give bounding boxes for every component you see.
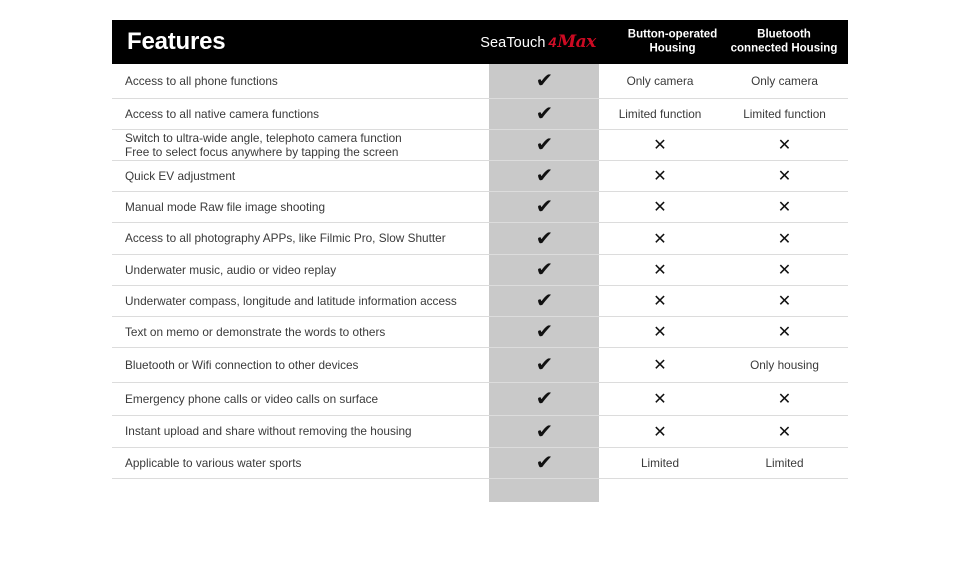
feature-label: Bluetooth or Wifi connection to other de… [112,358,489,373]
check-icon: ✔ [535,228,553,248]
table-row: Quick EV adjustment✔✕✕ [112,161,848,192]
feature-label: Manual mode Raw file image shooting [112,200,489,215]
cell-button-operated: ✕ [599,137,721,153]
cross-icon: ✕ [778,293,791,309]
cell-bluetooth-connected: ✕ [721,199,848,215]
cell-seatouch: ✔ [489,290,599,312]
table-row: Emergency phone calls or video calls on … [112,383,848,416]
cell-seatouch: ✔ [489,70,599,92]
feature-label-line: Access to all photography APPs, like Fil… [125,231,483,246]
cross-icon: ✕ [778,199,791,215]
column-header-line1: Bluetooth [720,29,848,43]
cell-seatouch: ✔ [489,354,599,376]
cross-icon: ✕ [778,324,791,340]
feature-label-line: Access to all native camera functions [125,107,483,122]
cross-icon: ✕ [778,231,791,247]
feature-label: Underwater compass, longitude and latitu… [112,294,489,309]
feature-label-line: Underwater music, audio or video replay [125,263,483,278]
feature-label: Emergency phone calls or video calls on … [112,392,489,407]
cell-button-operated: ✕ [599,357,721,373]
check-icon: ✔ [535,354,553,374]
cross-icon: ✕ [778,391,791,407]
cross-icon: ✕ [778,137,791,153]
table-row: Instant upload and share without removin… [112,416,848,448]
table-row: Underwater compass, longitude and latitu… [112,286,848,317]
cell-bluetooth-connected: ✕ [721,391,848,407]
table-row: Switch to ultra-wide angle, telephoto ca… [112,130,848,161]
cell-bluetooth-connected: Limited [721,456,848,470]
cell-bluetooth-connected: ✕ [721,168,848,184]
feature-label: Instant upload and share without removin… [112,424,489,439]
check-icon: ✔ [535,70,553,90]
cell-button-operated: Limited [599,456,721,470]
comparison-table: Features SeaTouch4Max Button-operated Ho… [112,20,848,502]
check-icon: ✔ [535,196,553,216]
column-header-line2: connected Housing [720,42,848,56]
check-icon: ✔ [535,290,553,310]
check-icon: ✔ [535,452,553,472]
feature-label: Access to all native camera functions [112,107,489,122]
cross-icon: ✕ [653,391,666,407]
cross-icon: ✕ [778,262,791,278]
cell-value: Only housing [750,358,819,372]
cell-seatouch: ✔ [489,134,599,156]
feature-label-line: Applicable to various water sports [125,456,483,471]
cell-seatouch: ✔ [489,196,599,218]
cell-button-operated: ✕ [599,293,721,309]
check-icon: ✔ [535,134,553,154]
cell-button-operated: ✕ [599,262,721,278]
cell-button-operated: ✕ [599,324,721,340]
feature-label: Access to all photography APPs, like Fil… [112,231,489,246]
cross-icon: ✕ [653,357,666,373]
check-icon: ✔ [535,165,553,185]
feature-label: Access to all phone functions [112,74,489,89]
cross-icon: ✕ [778,424,791,440]
feature-label-line: Emergency phone calls or video calls on … [125,392,483,407]
cell-seatouch: ✔ [489,421,599,443]
cross-icon: ✕ [653,424,666,440]
feature-label: Underwater music, audio or video replay [112,263,489,278]
cell-seatouch: ✔ [489,452,599,474]
feature-label: Applicable to various water sports [112,456,489,471]
check-icon: ✔ [535,259,553,279]
cell-bluetooth-connected: ✕ [721,231,848,247]
cell-value: Limited [765,456,803,470]
cell-button-operated: ✕ [599,199,721,215]
cell-seatouch: ✔ [489,259,599,281]
feature-label-line: Manual mode Raw file image shooting [125,200,483,215]
check-icon: ✔ [535,388,553,408]
cross-icon: ✕ [653,137,666,153]
table-row: Bluetooth or Wifi connection to other de… [112,348,848,383]
cross-icon: ✕ [653,324,666,340]
cell-button-operated: ✕ [599,231,721,247]
cell-seatouch: ✔ [489,165,599,187]
feature-label: Switch to ultra-wide angle, telephoto ca… [112,131,489,160]
cross-icon: ✕ [653,293,666,309]
feature-label-line: Underwater compass, longitude and latitu… [125,294,483,309]
cell-value: Limited function [743,107,826,121]
table-row: Access to all phone functions✔Only camer… [112,64,848,99]
cell-value: Limited [641,456,679,470]
cell-seatouch: ✔ [489,228,599,250]
cell-bluetooth-connected: ✕ [721,324,848,340]
brand-name: SeaTouch [480,35,545,51]
table-row: Access to all photography APPs, like Fil… [112,223,848,255]
cell-value: Limited function [619,107,702,121]
feature-label-line: Bluetooth or Wifi connection to other de… [125,358,483,373]
feature-label-line: Instant upload and share without removin… [125,424,483,439]
cross-icon: ✕ [653,199,666,215]
cross-icon: ✕ [778,168,791,184]
cell-seatouch: ✔ [489,321,599,343]
cell-bluetooth-connected: ✕ [721,262,848,278]
table-row: Access to all native camera functions✔Li… [112,99,848,130]
cell-value: Only camera [627,74,694,88]
cell-button-operated: Only camera [599,74,721,88]
cell-bluetooth-connected: Limited function [721,107,848,121]
cross-icon: ✕ [653,262,666,278]
cell-bluetooth-connected: Only camera [721,74,848,88]
page-title: Features [127,28,225,56]
cell-bluetooth-connected: ✕ [721,293,848,309]
table-header-bar: Features SeaTouch4Max Button-operated Ho… [112,20,848,64]
cell-seatouch: ✔ [489,388,599,410]
cell-value: Only camera [751,74,818,88]
cross-icon: ✕ [653,231,666,247]
feature-label-line: Switch to ultra-wide angle, telephoto ca… [125,131,483,146]
cell-button-operated: Limited function [599,107,721,121]
feature-label-line: Quick EV adjustment [125,169,483,184]
feature-rows: Access to all phone functions✔Only camer… [112,64,848,479]
seatouch-brand-logo: SeaTouch4Max [477,32,599,52]
table-row: Text on memo or demonstrate the words to… [112,317,848,348]
feature-label: Text on memo or demonstrate the words to… [112,325,489,340]
cell-button-operated: ✕ [599,168,721,184]
cell-button-operated: ✕ [599,391,721,407]
cell-seatouch: ✔ [489,103,599,125]
cell-bluetooth-connected: ✕ [721,137,848,153]
cell-bluetooth-connected: Only housing [721,358,848,372]
table-row: Underwater music, audio or video replay✔… [112,255,848,286]
feature-label-line: Free to select focus anywhere by tapping… [125,145,483,160]
cell-bluetooth-connected: ✕ [721,424,848,440]
feature-label: Quick EV adjustment [112,169,489,184]
table-row: Manual mode Raw file image shooting✔✕✕ [112,192,848,223]
feature-label-line: Access to all phone functions [125,74,483,89]
check-icon: ✔ [535,103,553,123]
cross-icon: ✕ [653,168,666,184]
feature-label-line: Text on memo or demonstrate the words to… [125,325,483,340]
column-header-bluetooth-connected: Bluetooth connected Housing [720,29,848,56]
check-icon: ✔ [535,321,553,341]
check-icon: ✔ [535,421,553,441]
cell-button-operated: ✕ [599,424,721,440]
brand-number: 4 [549,34,557,50]
brand-suffix: Max [557,32,595,52]
table-row: Applicable to various water sports✔Limit… [112,448,848,479]
